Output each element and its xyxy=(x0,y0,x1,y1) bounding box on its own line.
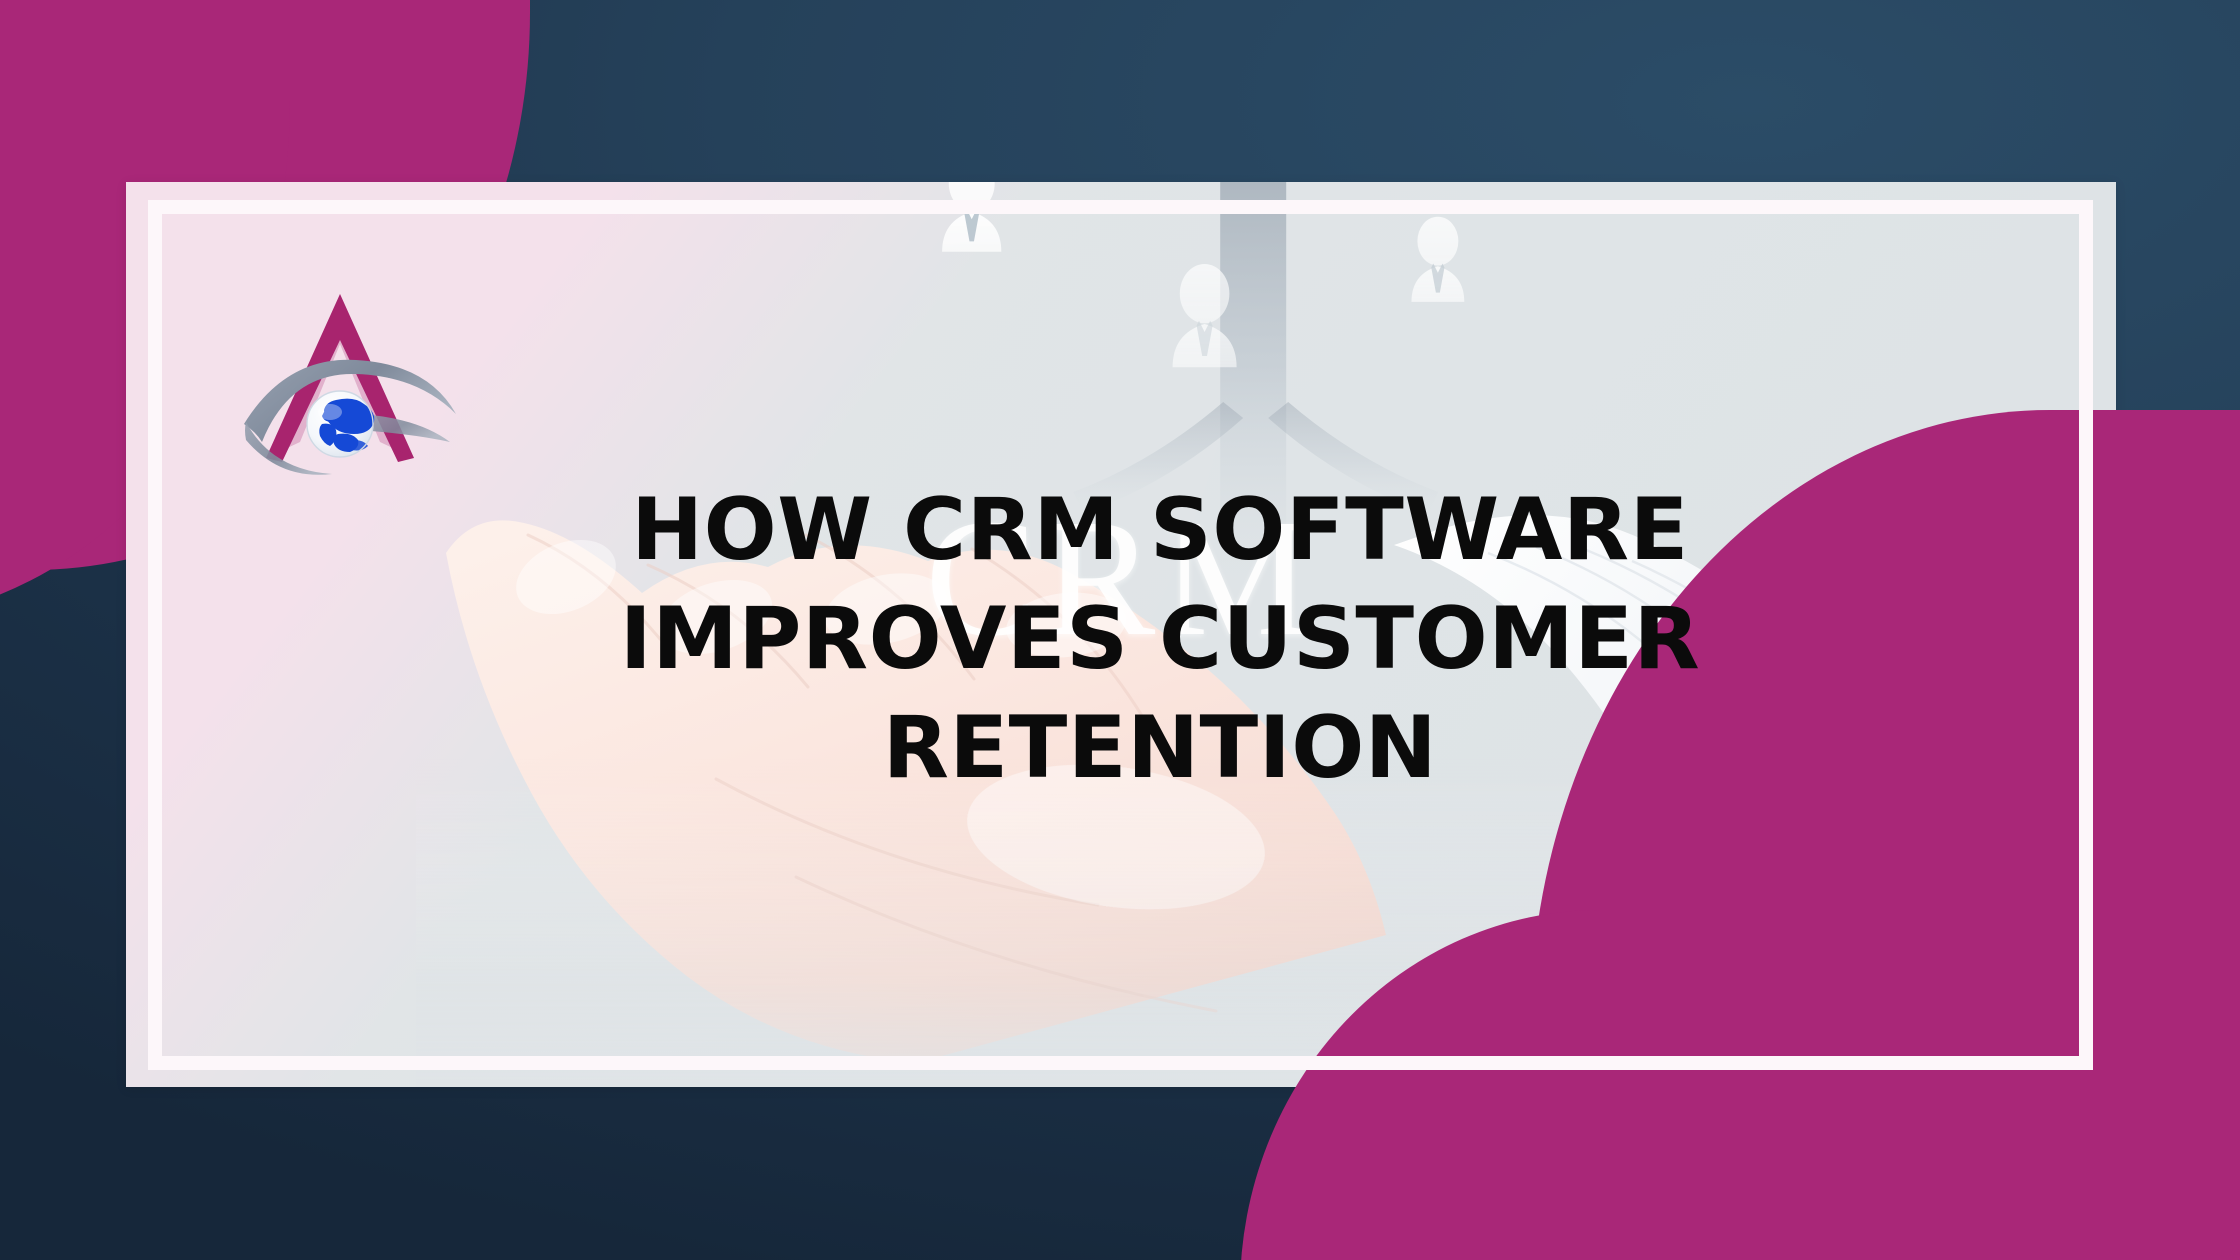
logo-globe-icon xyxy=(307,391,374,457)
banner-canvas: CRM xyxy=(0,0,2240,1260)
page-title: HOW CRM SOFTWARE IMPROVES CUSTOMER RETEN… xyxy=(560,476,1760,804)
title-line-2: IMPROVES CUSTOMER xyxy=(560,585,1760,694)
title-line-1: HOW CRM SOFTWARE xyxy=(560,476,1760,585)
title-line-3: RETENTION xyxy=(560,694,1760,803)
brand-logo[interactable] xyxy=(228,282,456,480)
